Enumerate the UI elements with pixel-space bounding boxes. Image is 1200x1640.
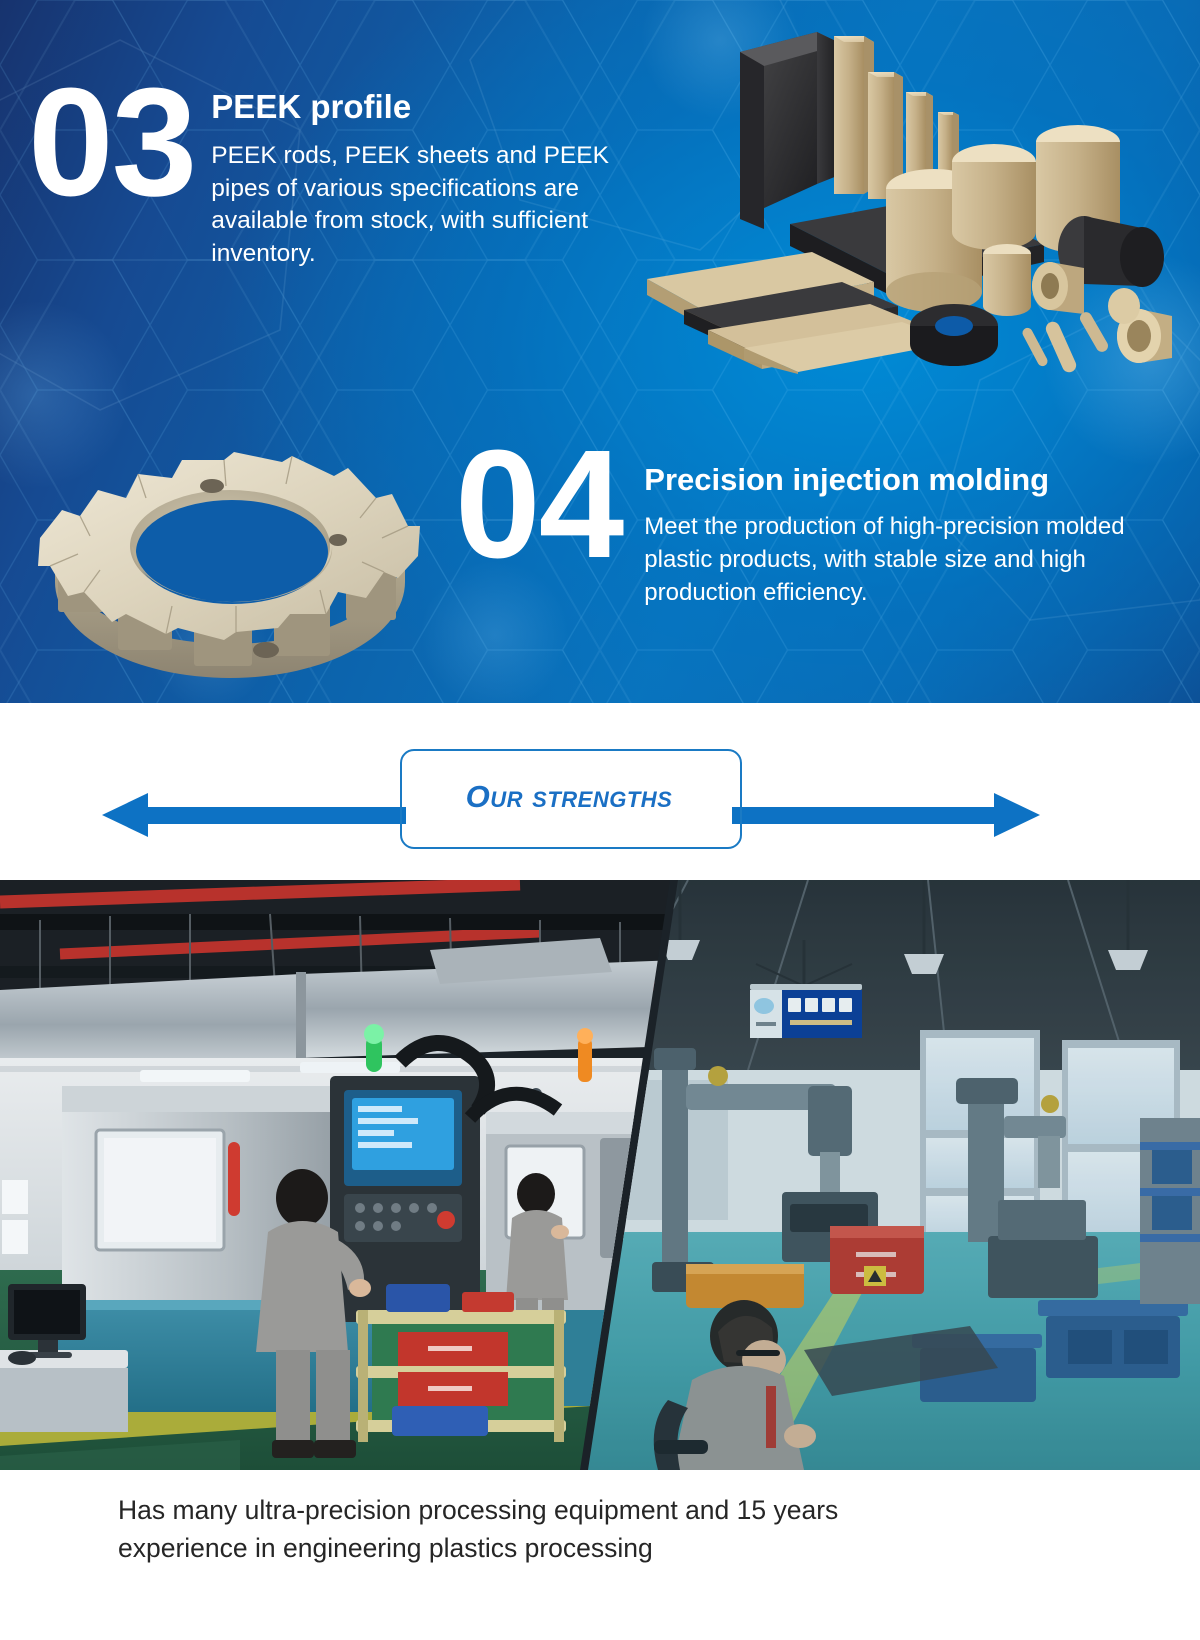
feature-block-03: 03 PEEK profile PEEK rods, PEEK sheets a… xyxy=(28,78,668,270)
peek-profile-product-image xyxy=(612,14,1192,374)
marketing-page: 03 PEEK profile PEEK rods, PEEK sheets a… xyxy=(0,0,1200,1640)
strengths-section: Our strengths xyxy=(0,703,1200,880)
strengths-label: Our strengths xyxy=(400,749,738,845)
gallery-caption: Has many ultra-precision processing equi… xyxy=(0,1492,1200,1567)
strengths-banner: Our strengths xyxy=(0,735,1200,855)
feature-body-03: PEEK rods, PEEK sheets and PEEK pipes of… xyxy=(211,140,668,270)
precision-molded-gear-ring-image xyxy=(30,408,430,700)
hero-blue-panel: 03 PEEK profile PEEK rods, PEEK sheets a… xyxy=(0,0,1200,703)
feature-body-04: Meet the production of high-precision mo… xyxy=(644,510,1155,609)
feature-block-04: 04 Precision injection molding Meet the … xyxy=(455,440,1155,609)
caption-line-1: Has many ultra-precision processing equi… xyxy=(118,1492,1200,1530)
feature-number-03: 03 xyxy=(28,78,195,207)
photo-mold-workshop xyxy=(568,880,1200,1470)
photo-cnc-workshop xyxy=(0,880,680,1470)
feature-title-04: Precision injection molding xyxy=(644,462,1155,498)
feature-title-03: PEEK profile xyxy=(211,88,668,126)
caption-line-2: experience in engineering plastics proce… xyxy=(118,1530,1200,1568)
feature-number-04: 04 xyxy=(455,440,622,569)
factory-photo-gallery xyxy=(0,880,1200,1470)
